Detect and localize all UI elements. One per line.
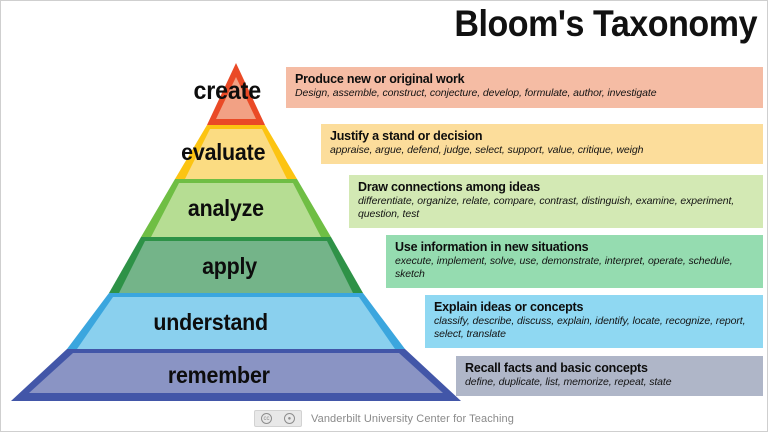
diagram-canvas: Bloom's Taxonomy (0, 0, 768, 432)
description-heading-create: Produce new or original work (295, 72, 755, 86)
page-title: Bloom's Taxonomy (454, 3, 757, 45)
tier-label-remember: remember (168, 362, 270, 389)
description-box-create: Produce new or original work Design, ass… (286, 67, 763, 108)
description-heading-evaluate: Justify a stand or decision (330, 129, 755, 143)
description-verbs-apply: execute, implement, solve, use, demonstr… (395, 255, 755, 280)
description-box-understand: Explain ideas or concepts classify, desc… (425, 295, 763, 348)
description-heading-apply: Use information in new situations (395, 240, 755, 254)
tier-label-apply: apply (202, 253, 257, 280)
description-box-evaluate: Justify a stand or decision appraise, ar… (321, 124, 763, 164)
tier-label-evaluate: evaluate (181, 139, 265, 166)
tier-label-understand: understand (153, 309, 268, 336)
description-verbs-evaluate: appraise, argue, defend, judge, select, … (330, 144, 755, 157)
description-heading-analyze: Draw connections among ideas (358, 180, 755, 194)
description-verbs-remember: define, duplicate, list, memorize, repea… (465, 376, 755, 389)
description-box-analyze: Draw connections among ideas differentia… (349, 175, 763, 228)
description-verbs-analyze: differentiate, organize, relate, compare… (358, 195, 755, 220)
description-heading-remember: Recall facts and basic concepts (465, 361, 755, 375)
description-verbs-understand: classify, describe, discuss, explain, id… (434, 315, 755, 340)
cc-by-person-icon: ● (284, 413, 295, 424)
description-box-remember: Recall facts and basic concepts define, … (456, 356, 763, 396)
creative-commons-badge[interactable]: cc ● (254, 410, 302, 427)
attribution-text: Vanderbilt University Center for Teachin… (311, 413, 514, 425)
description-box-apply: Use information in new situations execut… (386, 235, 763, 288)
footer: cc ● Vanderbilt University Center for Te… (1, 410, 767, 427)
tier-label-analyze: analyze (188, 195, 264, 222)
description-heading-understand: Explain ideas or concepts (434, 300, 755, 314)
cc-icon: cc (261, 413, 272, 424)
tier-label-create: create (194, 77, 261, 106)
description-verbs-create: Design, assemble, construct, conjecture,… (295, 87, 755, 100)
